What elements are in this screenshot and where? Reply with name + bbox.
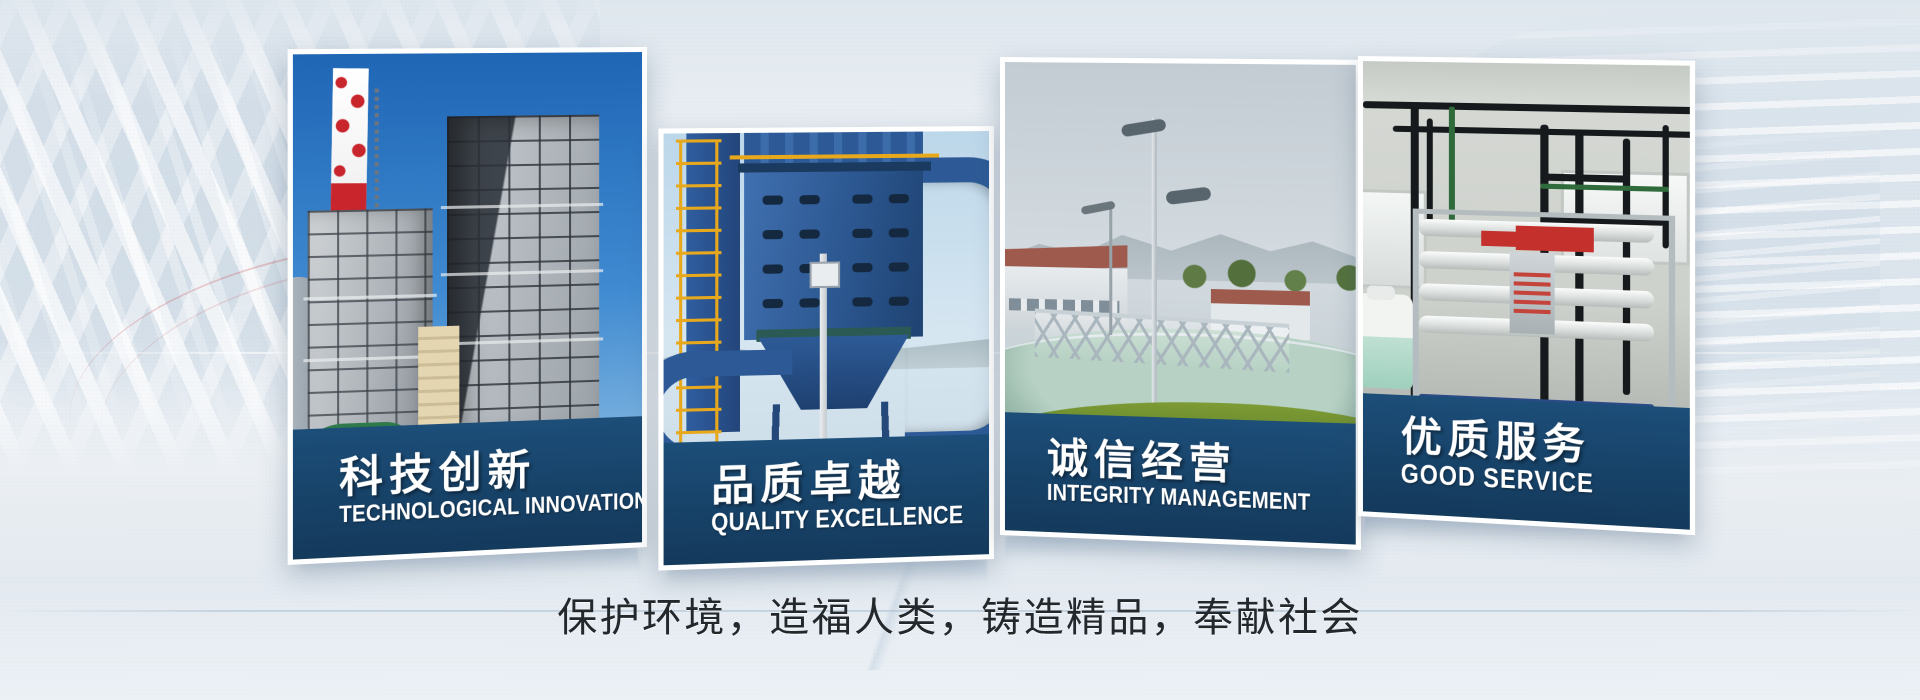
feature-panel-integrity-management[interactable]: 诚信经营 INTEGRITY MANAGEMENT — [1000, 57, 1361, 550]
banner-tagline: 保护环境，造福人类，铸造精品，奉献社会 — [0, 585, 1920, 643]
panel-caption-3: 诚信经营 INTEGRITY MANAGEMENT — [1005, 412, 1356, 544]
panel-caption-1: 科技创新 TECHNOLOGICAL INNOVATION — [293, 416, 642, 559]
feature-panel-good-service[interactable]: 优质服务 GOOD SERVICE — [1358, 56, 1695, 535]
panel-title-en-2: QUALITY EXCELLENCE — [711, 502, 951, 537]
feature-panel-quality-excellence[interactable]: 品质卓越 QUALITY EXCELLENCE — [658, 126, 994, 571]
panel-caption-4: 优质服务 GOOD SERVICE — [1363, 393, 1690, 529]
feature-panel-technological-innovation[interactable]: 科技创新 TECHNOLOGICAL INNOVATION — [288, 47, 647, 565]
panel-caption-2: 品质卓越 QUALITY EXCELLENCE — [664, 434, 989, 565]
banner-stage: 科技创新 TECHNOLOGICAL INNOVATION — [0, 0, 1920, 700]
